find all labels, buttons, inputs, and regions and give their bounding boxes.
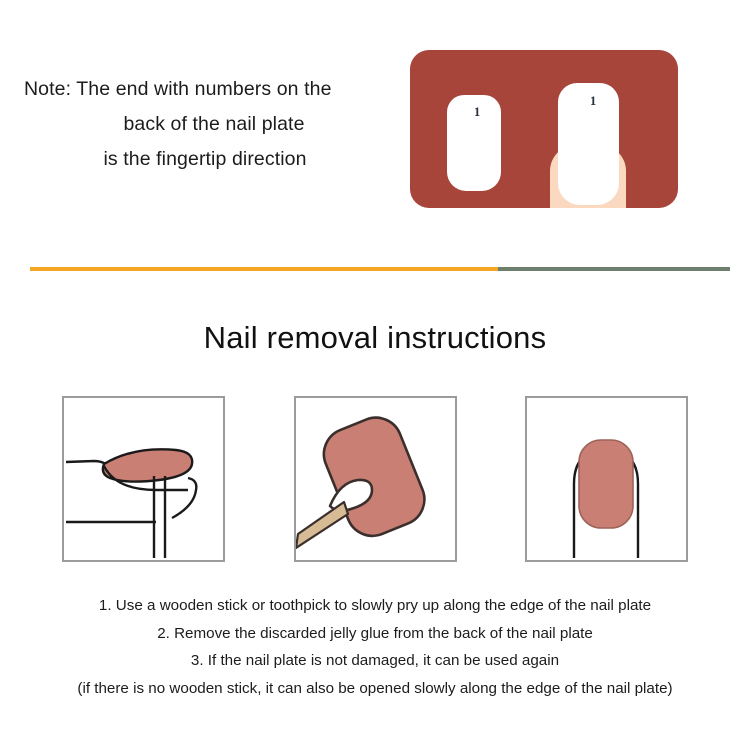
illustration-box-stick-under-plate [294, 396, 457, 562]
stick-under-plate-diagram [296, 398, 455, 560]
page-title: Nail removal instructions [0, 320, 750, 356]
note-line-3: is the fingertip direction [18, 142, 388, 177]
illustration-box-plate-on-finger [525, 396, 688, 562]
note-line-2: back of the nail plate [18, 107, 388, 142]
note-section: Note: The end with numbers on the back o… [0, 0, 750, 255]
nail-number-right: 1 [590, 95, 596, 108]
nail-number-left: 1 [474, 106, 480, 119]
section-divider [30, 267, 730, 271]
illustration-box-pry-up [62, 396, 225, 562]
nail-plate-illustration-panel: 1 1 [410, 50, 678, 208]
divider-segment-orange [30, 267, 498, 271]
instruction-line-3: 3. If the nail plate is not damaged, it … [0, 647, 750, 675]
instruction-list: 1. Use a wooden stick or toothpick to sl… [0, 592, 750, 702]
note-line-1: Note: The end with numbers on the [18, 72, 388, 107]
nail-sticker-right [558, 83, 619, 205]
illustration-row [62, 396, 688, 566]
divider-segment-green [498, 267, 730, 271]
instruction-line-4: (if there is no wooden stick, it can als… [0, 675, 750, 703]
note-text-block: Note: The end with numbers on the back o… [18, 72, 388, 177]
plate-on-finger-diagram [527, 398, 686, 560]
instruction-line-1: 1. Use a wooden stick or toothpick to sl… [0, 592, 750, 620]
pry-up-diagram [64, 398, 223, 560]
instruction-line-2: 2. Remove the discarded jelly glue from … [0, 620, 750, 648]
